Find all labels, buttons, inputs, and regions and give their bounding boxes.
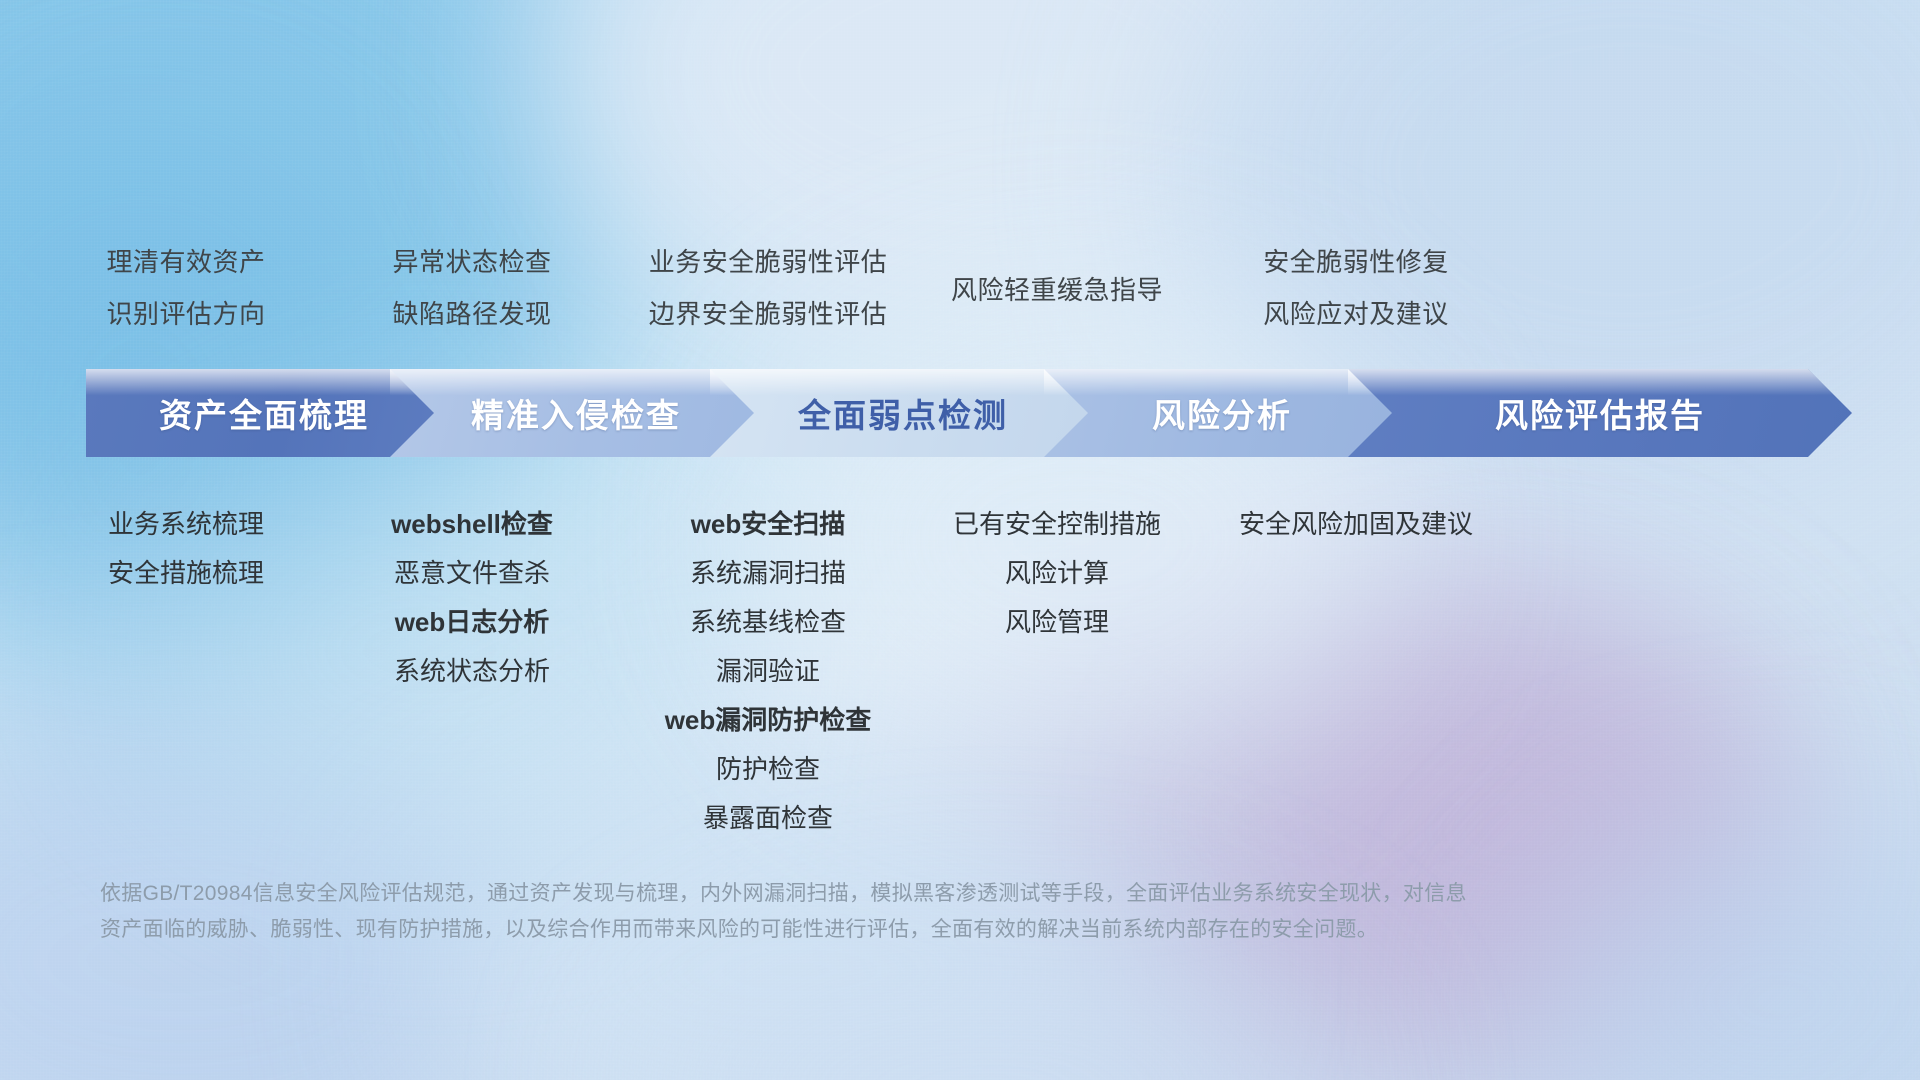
process-arrow-label: 风险评估报告 [1495,389,1705,437]
stage-bottom-item: web漏洞防护检查 [508,696,1028,745]
process-arrow-label: 资产全面梳理 [159,389,369,437]
process-arrow-label: 精准入侵检查 [471,389,681,437]
diagram-content: 理清有效资产识别评估方向异常状态检查缺陷路径发现业务安全脆弱性评估边界安全脆弱性… [0,0,1920,1080]
stage-bottom-item: 暴露面检查 [508,794,1028,843]
process-arrow-4[interactable]: 风险分析 [1044,369,1400,457]
stage-bottom-item: 风险计算 [797,549,1317,598]
stage-bottom-item: 风险管理 [797,598,1317,647]
process-arrow-label: 风险分析 [1152,389,1292,437]
process-arrow-label: 全面弱点检测 [798,389,1008,437]
stage-top-caption: 安全脆弱性修复 [1096,236,1616,288]
footer-description: 依据GB/T20984信息安全风险评估规范，通过资产发现与梳理，内外网漏洞扫描，… [100,876,1660,948]
top-captions-row: 理清有效资产识别评估方向异常状态检查缺陷路径发现业务安全脆弱性评估边界安全脆弱性… [0,236,1920,346]
footer-line-1: 依据GB/T20984信息安全风险评估规范，通过资产发现与梳理，内外网漏洞扫描，… [100,876,1660,912]
stage-bottom-item: 安全风险加固及建议 [1096,500,1616,549]
process-arrow-1[interactable]: 资产全面梳理 [86,369,442,457]
process-arrow-5[interactable]: 风险评估报告 [1348,369,1852,457]
stage-top-captions: 安全脆弱性修复风险应对及建议 [1096,236,1616,340]
footer-line-2: 资产面临的威胁、脆弱性、现有防护措施，以及综合作用而带来风险的可能性进行评估，全… [100,912,1660,948]
process-arrow-band: 资产全面梳理精准入侵检查全面弱点检测风险分析风险评估报告 [86,369,1852,457]
stage-top-caption: 风险应对及建议 [1096,288,1616,340]
stage-bottom-items: 安全风险加固及建议 [1096,500,1616,549]
process-arrow-2[interactable]: 精准入侵检查 [390,369,762,457]
process-arrow-3[interactable]: 全面弱点检测 [710,369,1096,457]
stage-bottom-item: 防护检查 [508,745,1028,794]
stage-bottom-item: 漏洞验证 [508,647,1028,696]
